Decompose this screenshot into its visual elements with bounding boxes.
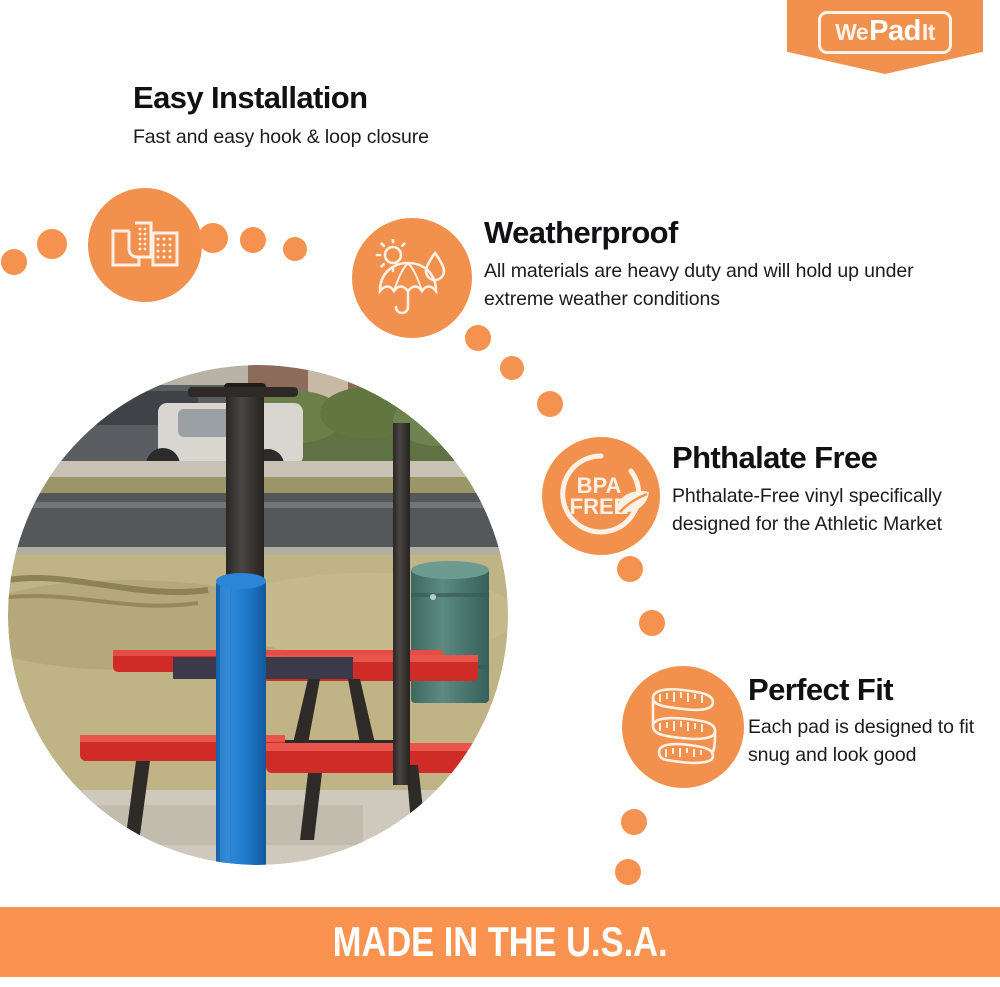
feature-description-weatherproof: All materials are heavy duty and will ho… [484, 258, 914, 313]
feature-description-perfect-fit: Each pad is designed to fit snug and loo… [748, 714, 980, 769]
feature-title-weatherproof: Weatherproof [484, 215, 678, 251]
path-dot [240, 227, 266, 253]
product-photo [8, 365, 508, 865]
infographic-page: We Pad It Easy Installation Fast and eas… [0, 0, 1000, 987]
logo-text-we: We [835, 21, 868, 44]
feature-description-easy-installation: Fast and easy hook & loop closure [133, 124, 553, 152]
logo-text-it: It [922, 21, 935, 44]
path-dot [37, 229, 67, 259]
measuring-tape-icon [622, 666, 744, 788]
feature-description-phthalate-free: Phthalate-Free vinyl specifically design… [672, 483, 942, 538]
hook-and-loop-icon [88, 188, 202, 302]
path-dot [500, 356, 524, 380]
path-dot [615, 859, 641, 885]
path-dot [537, 391, 563, 417]
path-dot [617, 556, 643, 582]
feature-title-perfect-fit: Perfect Fit [748, 672, 893, 708]
feature-title-phthalate-free: Phthalate Free [672, 440, 877, 476]
made-in-usa-text: MADE IN THE U.S.A. [333, 918, 668, 966]
logo-text-pad: Pad [869, 17, 921, 46]
path-dot [198, 223, 228, 253]
path-dot [465, 325, 491, 351]
made-in-usa-banner: MADE IN THE U.S.A. [0, 907, 1000, 977]
brand-logo-badge: We Pad It [787, 0, 983, 74]
umbrella-sun-raindrop-icon [352, 218, 472, 338]
brand-logo-outline: We Pad It [818, 11, 952, 54]
feature-title-easy-installation: Easy Installation [133, 80, 367, 116]
path-dot [1, 249, 27, 275]
path-dot [621, 809, 647, 835]
path-dot [639, 610, 665, 636]
path-dot [283, 237, 307, 261]
bpa-free-leaf-icon: BPA FREE [542, 437, 660, 555]
